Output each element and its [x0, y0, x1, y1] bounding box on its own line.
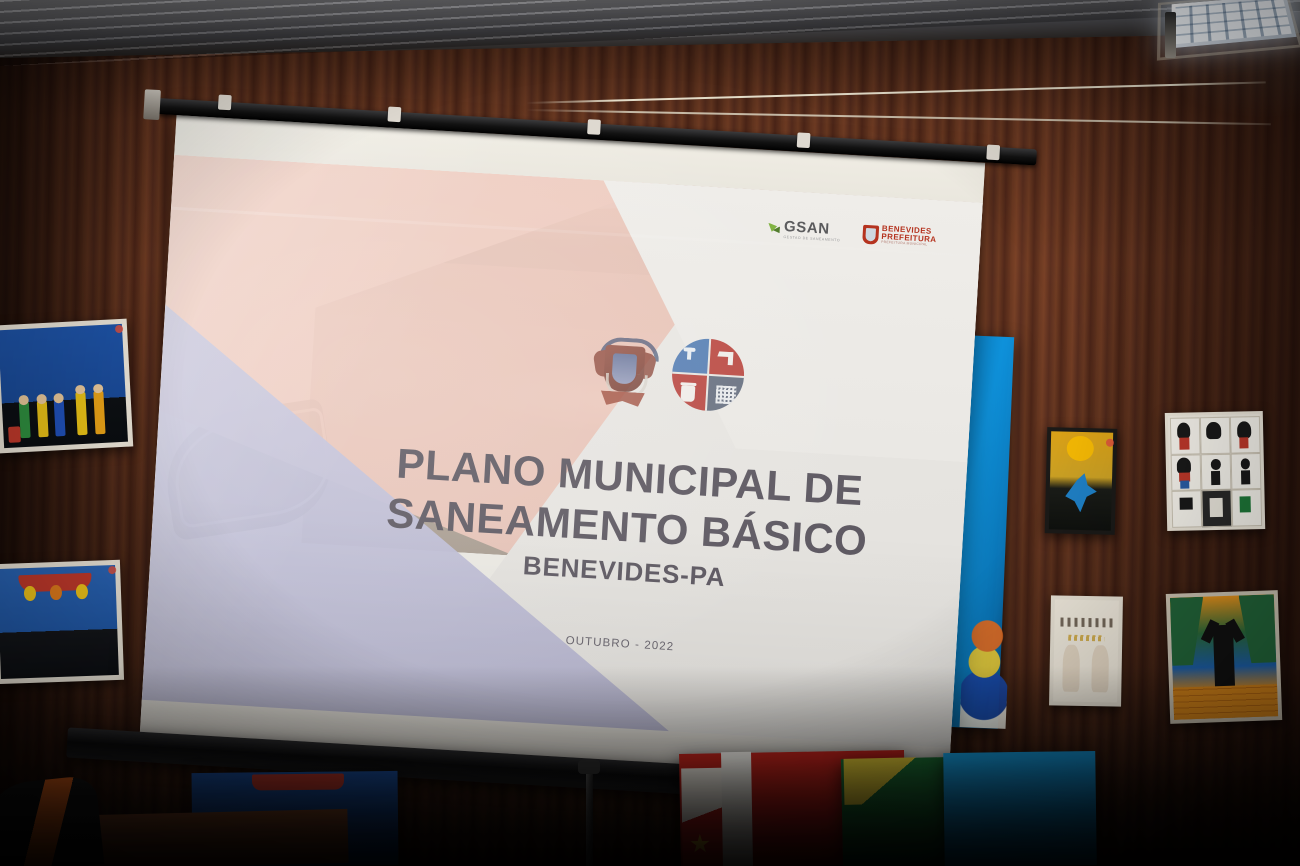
rod-clip: [387, 106, 401, 122]
coat-of-arms-icon: [590, 330, 658, 410]
rod-clip: [218, 95, 232, 111]
wall-art-comic-grid: [1165, 411, 1265, 531]
bird-shape: [1063, 473, 1097, 513]
prefeitura-shield-icon: [862, 224, 879, 244]
slide-emblems: [590, 330, 746, 415]
coat-ribbon: [600, 390, 645, 407]
prefeitura-wordmark: BENEVIDES PREFEITURA PREFEITURA MUNICIPA…: [881, 225, 937, 248]
prefeitura-logo: BENEVIDES PREFEITURA PREFEITURA MUNICIPA…: [862, 224, 937, 248]
sanitation-wheel-icon: [670, 337, 746, 413]
quadrant-drainage: [706, 375, 744, 413]
tap-icon: [681, 345, 700, 364]
scene-root: GSAN GESTAO DE SANEAMENTO BENEVIDES PREF…: [0, 0, 1300, 866]
rod-clip: [797, 132, 811, 148]
sun-shape: [1067, 436, 1095, 462]
rod-clip: [986, 145, 1000, 161]
gsan-mark-icon: [768, 222, 782, 236]
quadrant-sewage: [708, 339, 746, 377]
art-canvas: [1049, 431, 1113, 530]
wall-art-blue-bird: [1045, 427, 1118, 535]
wire-wall-bracket: [1165, 12, 1176, 58]
gsan-logo: GSAN GESTAO DE SANEAMENTO: [767, 218, 841, 242]
quadrant-water: [672, 337, 710, 375]
art-canvas: [1168, 414, 1262, 528]
drain-grate-icon: [715, 385, 736, 404]
rod-clip: [587, 119, 601, 135]
rod-end-cap: [143, 89, 161, 120]
pipe-icon: [718, 347, 739, 366]
room-bottom-shadow: [0, 666, 1300, 866]
quadrant-waste: [670, 373, 708, 411]
trash-bin-icon: [679, 382, 696, 402]
